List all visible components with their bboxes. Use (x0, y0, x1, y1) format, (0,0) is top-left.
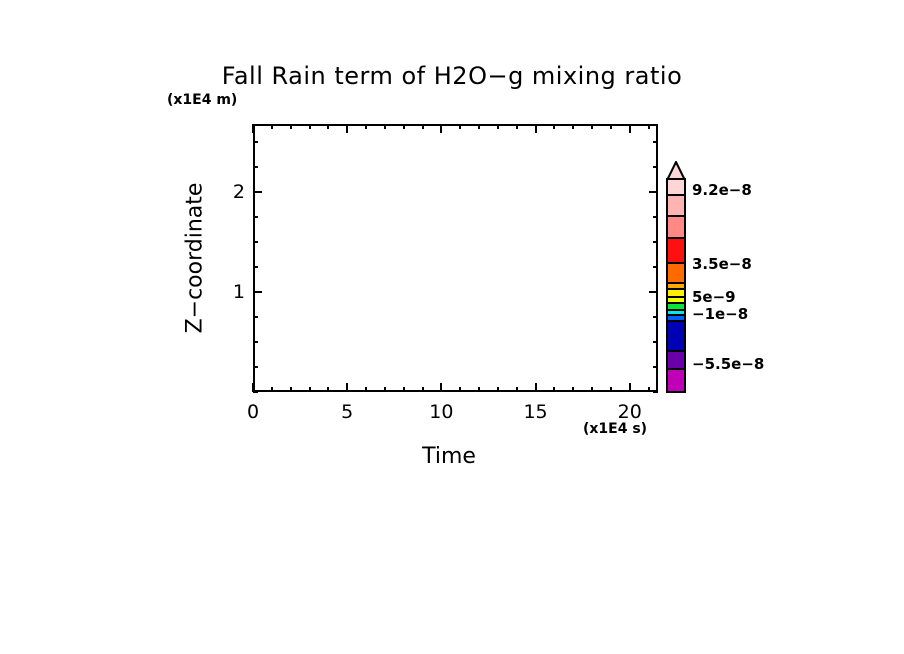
x-tick-minor (553, 387, 555, 392)
x-tick-minor-top (422, 124, 424, 129)
y-axis-unit-label: (x1E4 m) (167, 92, 237, 108)
colorbar-band-separator (668, 350, 684, 352)
figure-canvas: Fall Rain term of H2O−g mixing ratio (x1… (0, 0, 904, 654)
x-tick-minor-top (553, 124, 555, 129)
colorbar-band-separator (668, 215, 684, 217)
y-tick-minor-right (653, 316, 658, 318)
x-tick-minor (365, 387, 367, 392)
y-tick-minor (253, 341, 258, 343)
x-tick-minor (648, 387, 650, 392)
colorbar-band-orange (668, 263, 684, 283)
y-tick-minor-right (653, 391, 658, 393)
y-tick-major-right (649, 291, 658, 293)
colorbar-band-separator (668, 314, 684, 316)
x-tick-minor-top (365, 124, 367, 129)
x-tick-minor (384, 387, 386, 392)
x-tick-minor-top (271, 124, 273, 129)
y-tick-minor (253, 216, 258, 218)
y-tick-minor-right (653, 241, 658, 243)
y-axis-title: Z−coordinate (183, 183, 208, 334)
x-tick-major-top (346, 124, 348, 133)
y-tick-label: 2 (221, 181, 245, 203)
x-tick-minor (459, 387, 461, 392)
x-tick-label: 20 (618, 401, 642, 423)
colorbar-band-navy (668, 321, 684, 350)
x-tick-minor-top (648, 124, 650, 129)
colorbar-band-light-pink (668, 195, 684, 217)
x-tick-minor (327, 387, 329, 392)
y-tick-minor (253, 366, 258, 368)
chart-title: Fall Rain term of H2O−g mixing ratio (0, 62, 904, 90)
x-tick-minor-top (459, 124, 461, 129)
colorbar[interactable] (666, 178, 686, 393)
y-tick-minor-right (653, 366, 658, 368)
colorbar-band-salmon (668, 216, 684, 238)
x-tick-label: 10 (429, 401, 453, 423)
x-tick-minor (478, 387, 480, 392)
colorbar-band-separator (668, 194, 684, 196)
y-tick-major (253, 191, 262, 193)
x-tick-major-top (252, 124, 254, 133)
x-tick-minor-top (591, 124, 593, 129)
x-tick-label: 15 (523, 401, 547, 423)
x-tick-minor-top (572, 124, 574, 129)
y-tick-minor (253, 391, 258, 393)
y-tick-minor-right (653, 141, 658, 143)
x-tick-minor-top (309, 124, 311, 129)
colorbar-band-separator (668, 237, 684, 239)
y-tick-minor (253, 141, 258, 143)
x-tick-minor-top (610, 124, 612, 129)
colorbar-tick-label: −1e−8 (692, 305, 748, 323)
x-tick-minor (290, 387, 292, 392)
x-tick-major (346, 383, 348, 392)
x-tick-minor-top (290, 124, 292, 129)
y-tick-minor-right (653, 341, 658, 343)
colorbar-band-separator (668, 288, 684, 290)
colorbar-band-separator (668, 282, 684, 284)
colorbar-tick-label: 5e−9 (692, 288, 736, 306)
x-tick-minor (497, 387, 499, 392)
x-tick-major-top (440, 124, 442, 133)
x-axis-title-text: Time (422, 444, 476, 469)
x-tick-major (535, 383, 537, 392)
x-tick-minor (422, 387, 424, 392)
x-tick-minor (591, 387, 593, 392)
x-axis-title: Time (0, 444, 904, 469)
x-tick-minor-top (497, 124, 499, 129)
colorbar-band-pale-pink (668, 180, 684, 195)
colorbar-band-purple (668, 351, 684, 370)
x-tick-minor-top (478, 124, 480, 129)
y-tick-major-right (649, 191, 658, 193)
x-tick-major (440, 383, 442, 392)
y-tick-major (253, 291, 262, 293)
y-tick-minor (253, 241, 258, 243)
x-tick-major (629, 383, 631, 392)
colorbar-band-separator (668, 262, 684, 264)
x-tick-minor (516, 387, 518, 392)
colorbar-band-red (668, 238, 684, 264)
y-tick-minor-right (653, 266, 658, 268)
y-tick-minor-right (653, 166, 658, 168)
x-tick-minor-top (516, 124, 518, 129)
x-tick-minor-top (384, 124, 386, 129)
y-tick-minor (253, 316, 258, 318)
x-tick-minor (572, 387, 574, 392)
plot-area (253, 124, 658, 392)
colorbar-band-magenta (668, 369, 684, 391)
y-tick-minor (253, 166, 258, 168)
colorbar-band-separator (668, 320, 684, 322)
colorbar-band-separator (668, 368, 684, 370)
x-tick-minor (309, 387, 311, 392)
y-tick-minor-right (653, 216, 658, 218)
y-tick-minor (253, 266, 258, 268)
x-axis-unit-label: (x1E4 s) (583, 421, 647, 437)
x-tick-minor (403, 387, 405, 392)
x-tick-minor-top (403, 124, 405, 129)
x-tick-major-top (535, 124, 537, 133)
x-tick-label: 0 (247, 401, 259, 423)
x-tick-minor (610, 387, 612, 392)
colorbar-tick-label: −5.5e−8 (692, 355, 764, 373)
colorbar-tick-label: 3.5e−8 (692, 255, 752, 273)
x-tick-minor (271, 387, 273, 392)
x-tick-minor-top (327, 124, 329, 129)
colorbar-tick-label: 9.2e−8 (692, 181, 752, 199)
x-tick-label: 5 (341, 401, 353, 423)
colorbar-band-separator (668, 296, 684, 298)
colorbar-band-separator (668, 302, 684, 304)
y-tick-label: 1 (221, 281, 245, 303)
x-tick-major-top (629, 124, 631, 133)
colorbar-band-separator (668, 309, 684, 311)
